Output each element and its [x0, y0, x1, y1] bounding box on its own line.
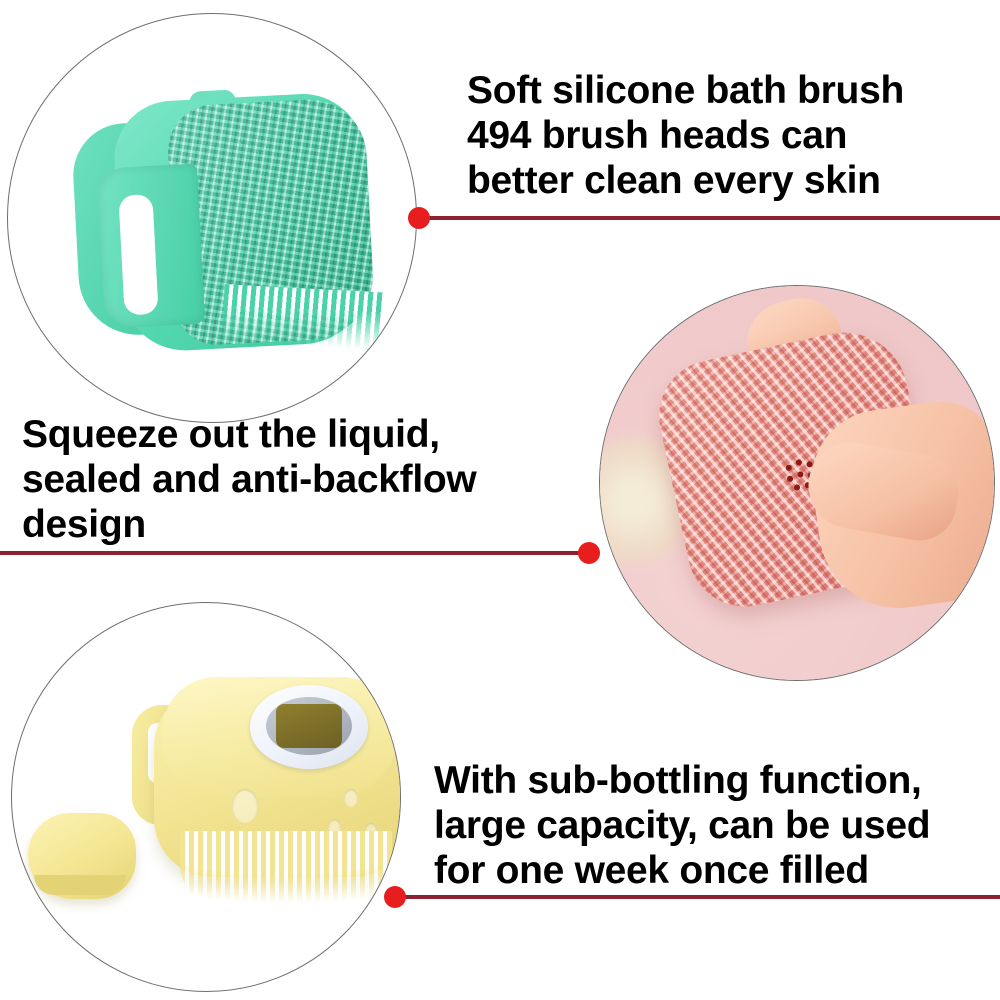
teal-brush-photo	[8, 14, 416, 422]
feature-1-connector-line	[412, 216, 1000, 220]
feature-1-caption: Soft silicone bath brush 494 brush heads…	[467, 68, 987, 203]
yellow-brush-dimple	[232, 789, 258, 823]
feature-3-connector-dot	[384, 886, 406, 908]
feature-2-connector-line	[0, 551, 592, 555]
teal-brush-strap-opening	[118, 194, 158, 316]
feature-1-connector-dot	[408, 207, 430, 229]
yellow-brush-dimple	[344, 789, 358, 807]
refill-port-opening	[276, 704, 342, 748]
refill-port-inner-collar	[266, 697, 352, 755]
teal-brush-bristle-fringe	[222, 284, 385, 350]
feature-2-caption: Squeeze out the liquid, sealed and anti-…	[22, 412, 582, 547]
yellow-brush-lid-edge	[34, 875, 126, 895]
feature-3-photo-circle	[11, 602, 401, 992]
infographic-page: Soft silicone bath brush 494 brush heads…	[0, 0, 1000, 1000]
feature-1-photo-circle	[7, 13, 417, 423]
yellow-brush-illustration	[132, 663, 401, 923]
teal-brush-illustration	[61, 76, 395, 372]
feature-3-connector-line	[394, 895, 1000, 899]
yellow-brush-photo	[12, 603, 400, 991]
feature-3-caption: With sub-bottling function, large capaci…	[434, 758, 994, 893]
yellow-brush-refill-lid	[28, 813, 136, 899]
refill-port-ring	[250, 685, 368, 769]
feature-2-photo-circle	[599, 285, 995, 681]
pink-brush-photo	[600, 286, 994, 680]
feature-2-connector-dot	[578, 542, 600, 564]
yellow-brush-bristles	[180, 831, 392, 905]
